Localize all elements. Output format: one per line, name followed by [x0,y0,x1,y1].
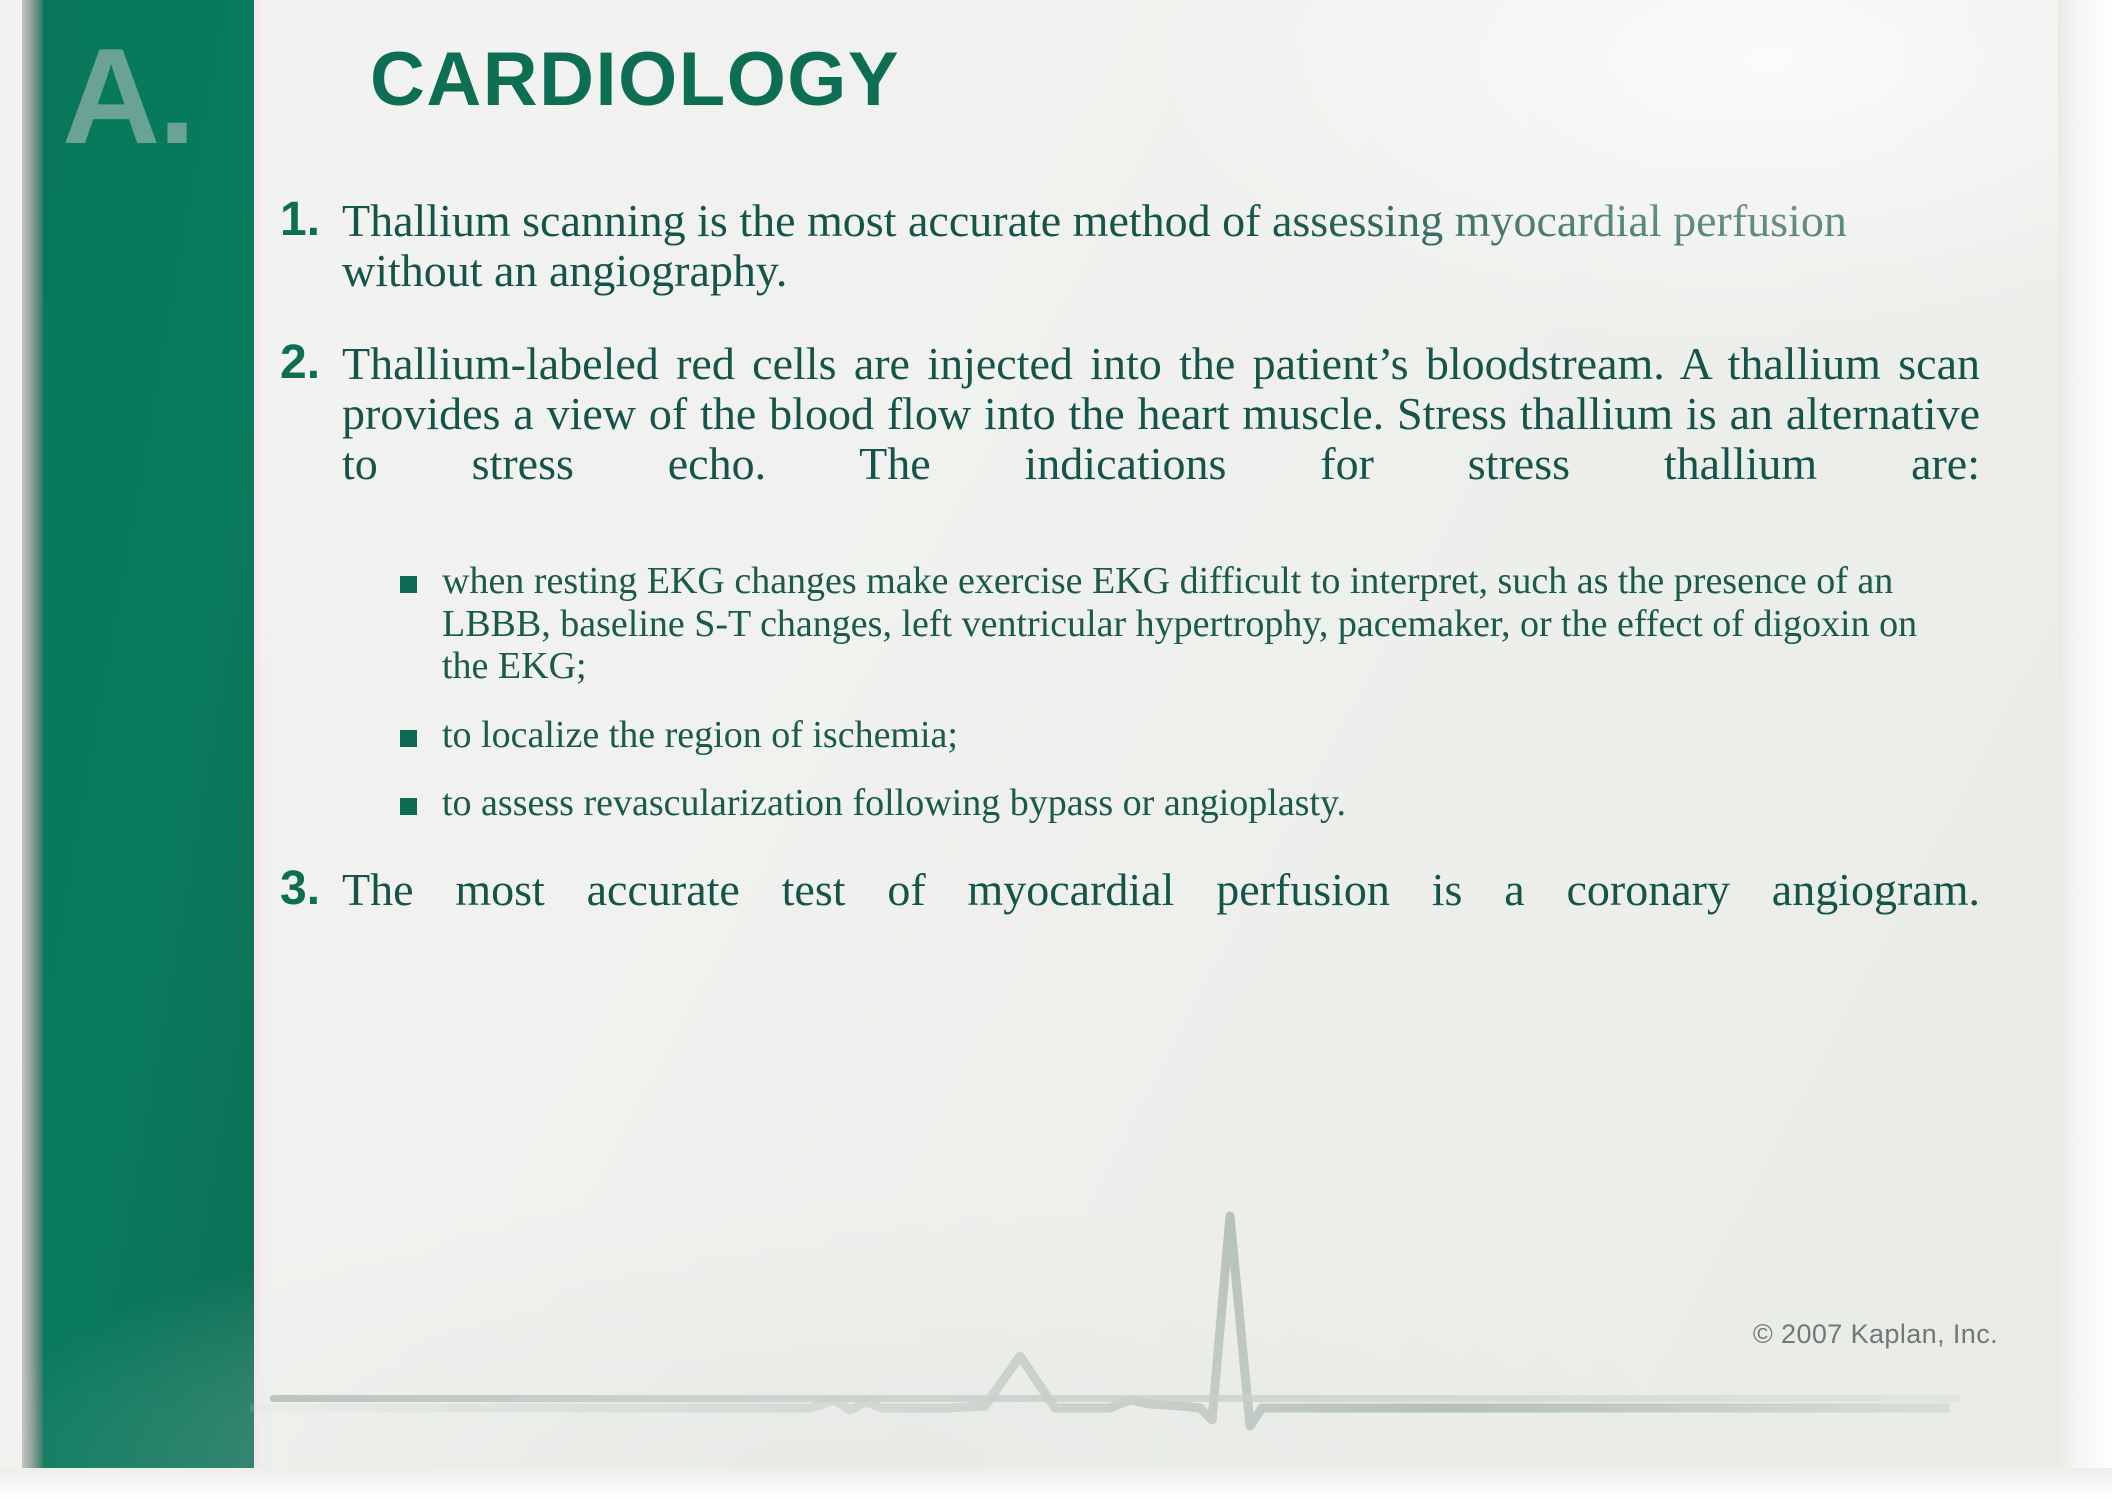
list-item: to localize the region of ischemia; [398,714,1918,757]
bullet-text: to localize the region of ischemia; [442,714,958,756]
item-text: The most accurate test of myocardial per… [342,865,1980,964]
green-sidebar: A. [22,0,254,1468]
list-item: 3. The most accurate test of myocardial … [280,865,1980,964]
ekg-baseline [270,1395,1960,1402]
sub-bullet-list: when resting EKG changes make exercise E… [398,560,1918,825]
slide-page: A. CARDIOLOGY 1. Thallium scanning is th… [0,0,2112,1501]
list-item: when resting EKG changes make exercise E… [398,560,1918,688]
square-bullet-icon [400,730,417,747]
bullet-text: when resting EKG changes make exercise E… [442,560,1917,687]
list-item: to assess revascularization following by… [398,782,1918,825]
slide-content: CARDIOLOGY 1. Thallium scanning is the m… [280,0,2020,1468]
item-number: 1. [280,192,342,247]
numbered-list: 1. Thallium scanning is the most accurat… [280,196,1980,1002]
item-number: 2. [280,335,342,390]
page-title: CARDIOLOGY [370,36,900,123]
item-text: Thallium-labeled red cells are injected … [342,339,1980,538]
item-text: Thallium scanning is the most accurate m… [342,196,1980,295]
scan-bottom-margin [0,1468,2112,1501]
item-number: 3. [280,861,342,916]
square-bullet-icon [400,576,417,593]
sidebar-left-edge [22,0,44,1468]
bullet-text: to assess revascularization following by… [442,782,1346,824]
square-bullet-icon [400,798,417,815]
copyright-notice: © 2007 Kaplan, Inc. [1753,1319,1998,1350]
list-item: 1. Thallium scanning is the most accurat… [280,196,1980,295]
sidebar-scan-stripe [254,0,280,1468]
section-letter: A. [62,28,194,164]
slide-canvas: A. CARDIOLOGY 1. Thallium scanning is th… [0,0,2058,1468]
scan-right-margin [2058,0,2112,1501]
list-item: 2. Thallium-labeled red cells are inject… [280,339,1980,538]
